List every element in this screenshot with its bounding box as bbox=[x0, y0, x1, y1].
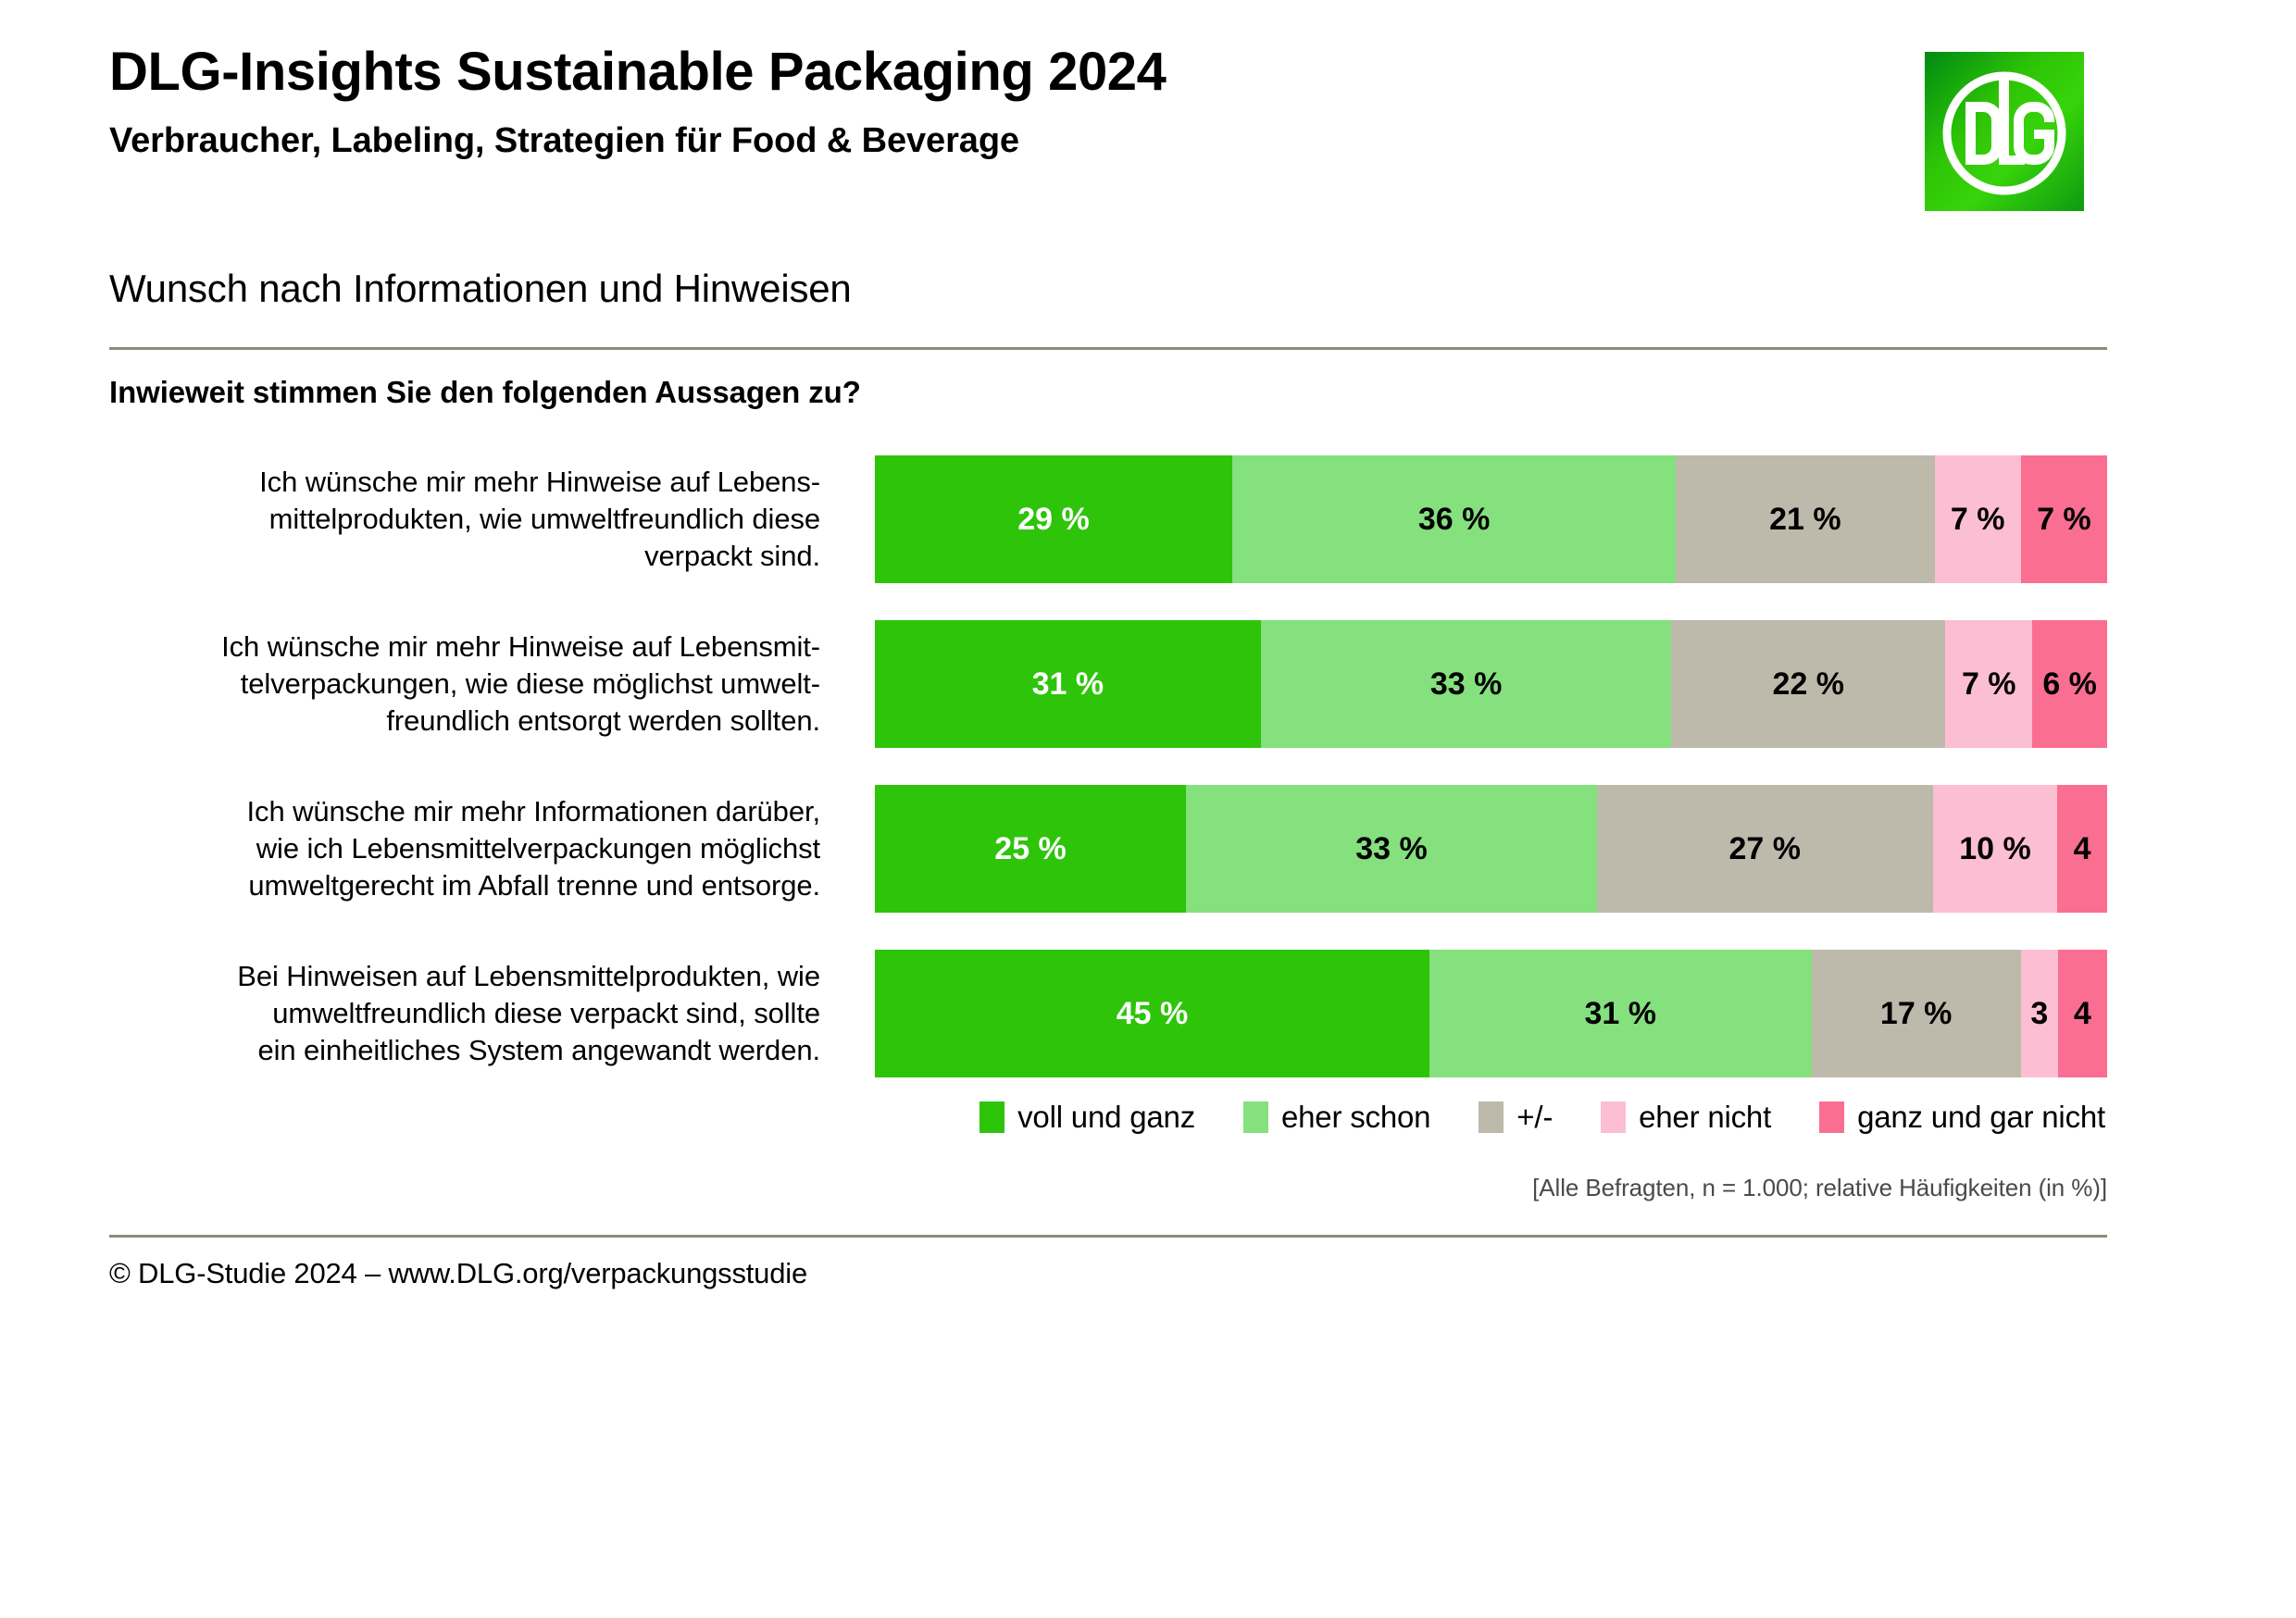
legend-label: voll und ganz bbox=[1017, 1100, 1195, 1135]
page-title: DLG-Insights Sustainable Packaging 2024 bbox=[109, 44, 1868, 101]
bar-segment-neutral: 17 % bbox=[1812, 950, 2021, 1077]
chart-legend: voll und ganzeher schon+/-eher nichtganz… bbox=[109, 1100, 2107, 1135]
slide-page: DLG-Insights Sustainable Packaging 2024 … bbox=[0, 0, 2296, 1618]
chart-row: Ich wünsche mir mehr Hinweise auf Lebens… bbox=[109, 455, 2107, 583]
bar-segment-ganz-und-gar-nicht: 6 % bbox=[2032, 620, 2107, 748]
legend-item[interactable]: eher schon bbox=[1243, 1100, 1430, 1135]
legend-label: eher nicht bbox=[1639, 1100, 1771, 1135]
bar-segment-eher-schon: 33 % bbox=[1261, 620, 1672, 748]
legend-swatch-eher-nicht bbox=[1601, 1101, 1626, 1133]
stacked-bar-chart: Ich wünsche mir mehr Hinweise auf Lebens… bbox=[109, 455, 2107, 1077]
chart-row: Bei Hinweisen auf Lebensmittelprodukten,… bbox=[109, 950, 2107, 1077]
chart-row-label-line: Ich wünsche mir mehr Hinweise auf Lebens… bbox=[221, 629, 820, 666]
chart-row-label-line: freundlich entsorgt werden sollten. bbox=[386, 703, 820, 740]
legend-swatch-neutral bbox=[1479, 1101, 1504, 1133]
chart-footnote: [Alle Befragten, n = 1.000; relative Häu… bbox=[109, 1174, 2107, 1202]
chart-row-label-line: telverpackungen, wie diese möglichst umw… bbox=[241, 666, 820, 703]
chart-row-label-line: mittelprodukten, wie umweltfreundlich di… bbox=[269, 501, 820, 538]
legend-item[interactable]: ganz und gar nicht bbox=[1819, 1100, 2105, 1135]
survey-question: Inwieweit stimmen Sie den folgenden Auss… bbox=[109, 375, 861, 410]
divider-bottom bbox=[109, 1235, 2107, 1238]
copyright-line: © DLG-Studie 2024 – www.DLG.org/verpacku… bbox=[109, 1257, 807, 1290]
section-heading: Wunsch nach Informationen und Hinweisen bbox=[109, 267, 852, 311]
stacked-bar: 29 %36 %21 %7 %7 % bbox=[875, 455, 2107, 583]
chart-row-label-line: Ich wünsche mir mehr Hinweise auf Lebens… bbox=[259, 464, 820, 501]
bar-segment-eher-schon: 33 % bbox=[1186, 785, 1597, 913]
chart-row: Ich wünsche mir mehr Informationen darüb… bbox=[109, 785, 2107, 913]
bar-segment-eher-schon: 31 % bbox=[1429, 950, 1812, 1077]
bar-segment-ganz-und-gar-nicht: 4 bbox=[2058, 950, 2107, 1077]
chart-row-label-line: umweltfreundlich diese verpackt sind, so… bbox=[272, 995, 820, 1032]
legend-swatch-eher-schon bbox=[1243, 1101, 1268, 1133]
chart-row-label-line: wie ich Lebensmittelverpackungen möglich… bbox=[256, 830, 820, 867]
legend-item[interactable]: +/- bbox=[1479, 1100, 1553, 1135]
bar-segment-neutral: 22 % bbox=[1671, 620, 1945, 748]
stacked-bar: 31 %33 %22 %7 %6 % bbox=[875, 620, 2107, 748]
bar-segment-voll-und-ganz: 31 % bbox=[875, 620, 1261, 748]
bar-segment-ganz-und-gar-nicht: 7 % bbox=[2021, 455, 2107, 583]
chart-row-label: Ich wünsche mir mehr Hinweise auf Lebens… bbox=[109, 620, 841, 748]
stacked-bar: 45 %31 %17 %34 bbox=[875, 950, 2107, 1077]
bar-segment-eher-nicht: 7 % bbox=[1935, 455, 2021, 583]
bar-segment-voll-und-ganz: 25 % bbox=[875, 785, 1186, 913]
chart-row-label: Bei Hinweisen auf Lebensmittelprodukten,… bbox=[109, 950, 841, 1077]
chart-row: Ich wünsche mir mehr Hinweise auf Lebens… bbox=[109, 620, 2107, 748]
legend-label: +/- bbox=[1516, 1100, 1553, 1135]
bar-segment-neutral: 27 % bbox=[1597, 785, 1933, 913]
bar-segment-eher-nicht: 10 % bbox=[1933, 785, 2057, 913]
bar-segment-neutral: 21 % bbox=[1676, 455, 1935, 583]
chart-row-label-line: umweltgerecht im Abfall trenne und entso… bbox=[248, 867, 820, 904]
legend-label: ganz und gar nicht bbox=[1857, 1100, 2105, 1135]
bar-segment-eher-nicht: 3 bbox=[2021, 950, 2058, 1077]
legend-swatch-voll-und-ganz bbox=[980, 1101, 1004, 1133]
bar-segment-eher-nicht: 7 % bbox=[1945, 620, 2032, 748]
stacked-bar: 25 %33 %27 %10 %4 bbox=[875, 785, 2107, 913]
legend-label: eher schon bbox=[1281, 1100, 1430, 1135]
chart-row-label-line: ein einheitliches System angewandt werde… bbox=[257, 1032, 820, 1069]
dlg-logo bbox=[1925, 52, 2084, 211]
page-subtitle: Verbraucher, Labeling, Strategien für Fo… bbox=[109, 121, 1868, 161]
bar-segment-voll-und-ganz: 45 % bbox=[875, 950, 1429, 1077]
bar-segment-voll-und-ganz: 29 % bbox=[875, 455, 1232, 583]
chart-row-label-line: Ich wünsche mir mehr Informationen darüb… bbox=[247, 793, 820, 830]
chart-row-label-line: Bei Hinweisen auf Lebensmittelprodukten,… bbox=[237, 958, 820, 995]
chart-row-label: Ich wünsche mir mehr Informationen darüb… bbox=[109, 785, 841, 913]
header: DLG-Insights Sustainable Packaging 2024 … bbox=[109, 44, 1868, 161]
bar-segment-eher-schon: 36 % bbox=[1232, 455, 1676, 583]
legend-item[interactable]: eher nicht bbox=[1601, 1100, 1771, 1135]
chart-row-label-line: verpackt sind. bbox=[644, 538, 820, 575]
legend-swatch-ganz-und-gar-nicht bbox=[1819, 1101, 1844, 1133]
bar-segment-ganz-und-gar-nicht: 4 bbox=[2057, 785, 2107, 913]
legend-item[interactable]: voll und ganz bbox=[980, 1100, 1195, 1135]
divider-top bbox=[109, 347, 2107, 350]
chart-row-label: Ich wünsche mir mehr Hinweise auf Lebens… bbox=[109, 455, 841, 583]
